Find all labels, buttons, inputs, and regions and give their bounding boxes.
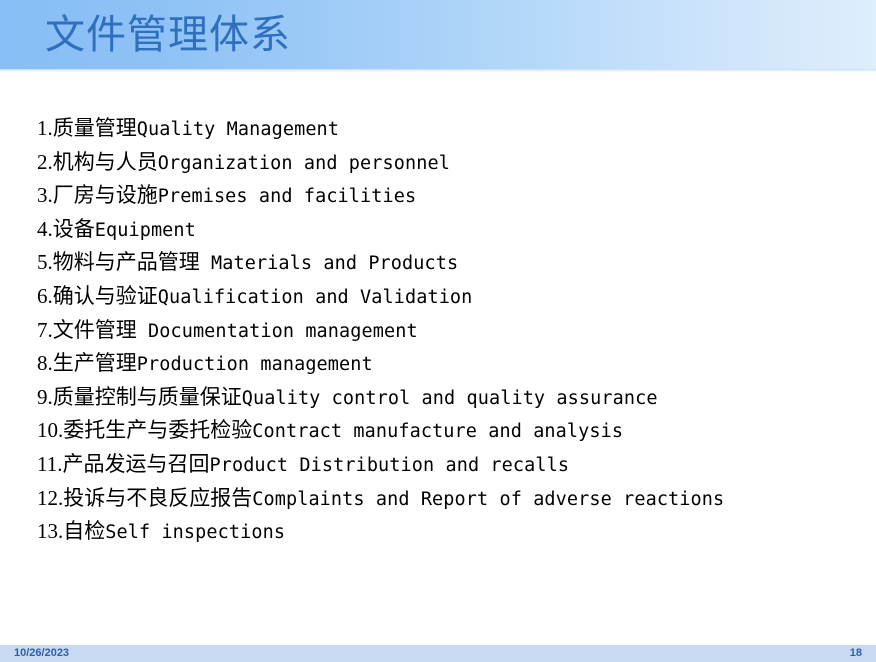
list-item-number: 12. bbox=[37, 486, 63, 510]
footer-date: 10/26/2023 bbox=[14, 646, 69, 661]
list-item-label-cn: 物料与产品管理 bbox=[53, 250, 200, 274]
list-item: 3.厂房与设施Premises and facilities bbox=[37, 179, 867, 213]
list-item-label-cn: 生产管理 bbox=[53, 351, 137, 375]
slide-canvas: 文件管理体系 1.质量管理Quality Management 2.机构与人员O… bbox=[0, 0, 876, 662]
list-item-label-cn: 自检 bbox=[63, 519, 105, 543]
list-item-number: 11. bbox=[37, 452, 62, 476]
list-item: 11.产品发运与召回Product Distribution and recal… bbox=[37, 448, 867, 482]
list-item-number: 9. bbox=[37, 385, 53, 409]
list-item: 13.自检Self inspections bbox=[37, 515, 867, 549]
footer-page-number: 18 bbox=[850, 646, 862, 661]
list-item-label-cn: 确认与验证 bbox=[53, 284, 158, 308]
document-outline-list: 1.质量管理Quality Management 2.机构与人员Organiza… bbox=[37, 112, 867, 549]
list-item-number: 6. bbox=[37, 284, 53, 308]
list-item-number: 5. bbox=[37, 250, 53, 274]
list-item-label-en: Quality control and quality assurance bbox=[242, 388, 658, 409]
list-item-label-cn: 机构与人员 bbox=[53, 150, 158, 174]
list-item: 12.投诉与不良反应报告Complaints and Report of adv… bbox=[37, 482, 867, 516]
list-item: 6.确认与验证Qualification and Validation bbox=[37, 280, 867, 314]
list-item-label-en: Production management bbox=[137, 354, 373, 375]
list-item-label-en: Organization and personnel bbox=[158, 153, 450, 174]
list-item: 8.生产管理Production management bbox=[37, 347, 867, 381]
list-item-label-en: Qualification and Validation bbox=[158, 287, 473, 308]
list-item-number: 4. bbox=[37, 217, 53, 241]
list-item-label-cn: 产品发运与召回 bbox=[62, 452, 209, 476]
list-item-label-en: Complaints and Report of adverse reactio… bbox=[252, 489, 724, 510]
list-item-number: 3. bbox=[37, 183, 53, 207]
list-item-label-en: Quality Management bbox=[137, 119, 339, 140]
list-item-number: 8. bbox=[37, 351, 53, 375]
list-item: 2.机构与人员Organization and personnel bbox=[37, 146, 867, 180]
list-item-label-cn: 投诉与不良反应报告 bbox=[63, 486, 252, 510]
list-item: 5.物料与产品管理 Materials and Products bbox=[37, 246, 867, 280]
footer-band bbox=[0, 645, 876, 662]
list-item-label-en: Product Distribution and recalls bbox=[209, 455, 569, 476]
list-item-label-cn: 质量控制与质量保证 bbox=[53, 385, 242, 409]
list-item-label-en: Premises and facilities bbox=[158, 186, 416, 207]
list-item-number: 2. bbox=[37, 150, 53, 174]
list-item-number: 10. bbox=[37, 418, 63, 442]
list-item: 9.质量控制与质量保证Quality control and quality a… bbox=[37, 381, 867, 415]
list-item: 7.文件管理 Documentation management bbox=[37, 314, 867, 348]
list-item-label-en: Self inspections bbox=[105, 522, 285, 543]
list-item-label-cn: 文件管理 bbox=[53, 318, 137, 342]
list-item-label-cn: 厂房与设施 bbox=[53, 183, 158, 207]
list-item-label-cn: 质量管理 bbox=[53, 116, 137, 140]
list-item-label-en: Contract manufacture and analysis bbox=[252, 421, 623, 442]
list-item-label-en: Equipment bbox=[95, 220, 196, 241]
list-item-number: 1. bbox=[37, 116, 53, 140]
list-item-label-en: Materials and Products bbox=[200, 253, 458, 274]
list-item-label-en: Documentation management bbox=[137, 321, 418, 342]
list-item: 4.设备Equipment bbox=[37, 213, 867, 247]
list-item-number: 7. bbox=[37, 318, 53, 342]
list-item-number: 13. bbox=[37, 519, 63, 543]
list-item-label-cn: 设备 bbox=[53, 217, 95, 241]
list-item-label-cn: 委托生产与委托检验 bbox=[63, 418, 252, 442]
title-banner-shadow bbox=[0, 69, 876, 73]
page-title: 文件管理体系 bbox=[45, 8, 291, 62]
list-item: 10.委托生产与委托检验Contract manufacture and ana… bbox=[37, 414, 867, 448]
list-item: 1.质量管理Quality Management bbox=[37, 112, 867, 146]
